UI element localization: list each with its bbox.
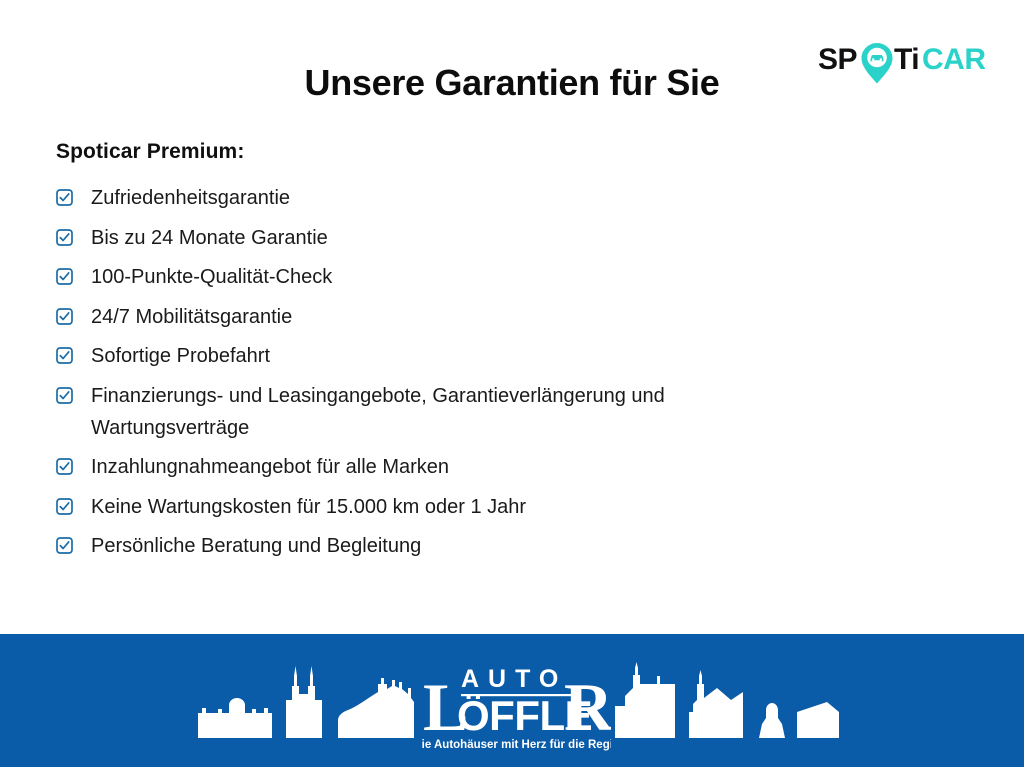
checkbox-check-icon	[56, 308, 73, 325]
checkbox-check-icon	[56, 268, 73, 285]
footer-band: L AUTO ÖFFLE R ...die Autohäuser mit Her…	[0, 634, 1024, 767]
list-item-label: Zufriedenheitsgarantie	[91, 182, 821, 214]
slide-root: SP Ti CAR Unsere Garantien für Sie Spoti…	[0, 0, 1024, 767]
footer-content: L AUTO ÖFFLE R ...die Autohäuser mit Her…	[0, 634, 1024, 767]
auto-loeffler-logo: L AUTO ÖFFLE R ...die Autohäuser mit Her…	[421, 654, 611, 754]
section-heading-spoticar-premium: Spoticar Premium:	[56, 140, 244, 164]
list-item-label: Persönliche Beratung und Begleitung	[91, 530, 821, 562]
list-item-label: Inzahlungnahmeangebot für alle Marken	[91, 451, 821, 483]
list-item-label: Keine Wartungskosten für 15.000 km oder …	[91, 491, 821, 523]
list-item: Keine Wartungskosten für 15.000 km oder …	[56, 491, 956, 523]
city-skyline-silhouette-right	[613, 658, 843, 747]
list-item: Sofortige Probefahrt	[56, 340, 956, 372]
list-item-label: 100-Punkte-Qualität-Check	[91, 261, 821, 293]
list-item: 100-Punkte-Qualität-Check	[56, 261, 956, 293]
checkbox-check-icon	[56, 347, 73, 364]
checkbox-check-icon	[56, 387, 73, 404]
checkbox-check-icon	[56, 189, 73, 206]
checkbox-check-icon	[56, 229, 73, 246]
list-item-label: Finanzierungs- und Leasingangebote, Gara…	[91, 380, 821, 444]
dealer-logo-initial-right: R	[564, 669, 611, 745]
guarantee-list: Zufriedenheitsgarantie Bis zu 24 Monate …	[56, 182, 956, 570]
list-item: Bis zu 24 Monate Garantie	[56, 222, 956, 254]
dealer-logo-tagline: ...die Autohäuser mit Herz für die Regio…	[421, 739, 611, 751]
dealer-logo-word-top: AUTO	[461, 665, 567, 693]
list-item: Inzahlungnahmeangebot für alle Marken	[56, 451, 956, 483]
list-item-label: Sofortige Probefahrt	[91, 340, 821, 372]
list-item: Persönliche Beratung und Begleitung	[56, 530, 956, 562]
checkbox-check-icon	[56, 458, 73, 475]
list-item-label: 24/7 Mobilitätsgarantie	[91, 301, 821, 333]
checkbox-check-icon	[56, 537, 73, 554]
list-item: 24/7 Mobilitätsgarantie	[56, 301, 956, 333]
list-item: Zufriedenheitsgarantie	[56, 182, 956, 214]
city-skyline-silhouette-left	[196, 658, 416, 747]
list-item-label: Bis zu 24 Monate Garantie	[91, 222, 821, 254]
list-item: Finanzierungs- und Leasingangebote, Gara…	[56, 380, 956, 444]
page-title: Unsere Garantien für Sie	[0, 62, 1024, 104]
checkbox-check-icon	[56, 498, 73, 515]
